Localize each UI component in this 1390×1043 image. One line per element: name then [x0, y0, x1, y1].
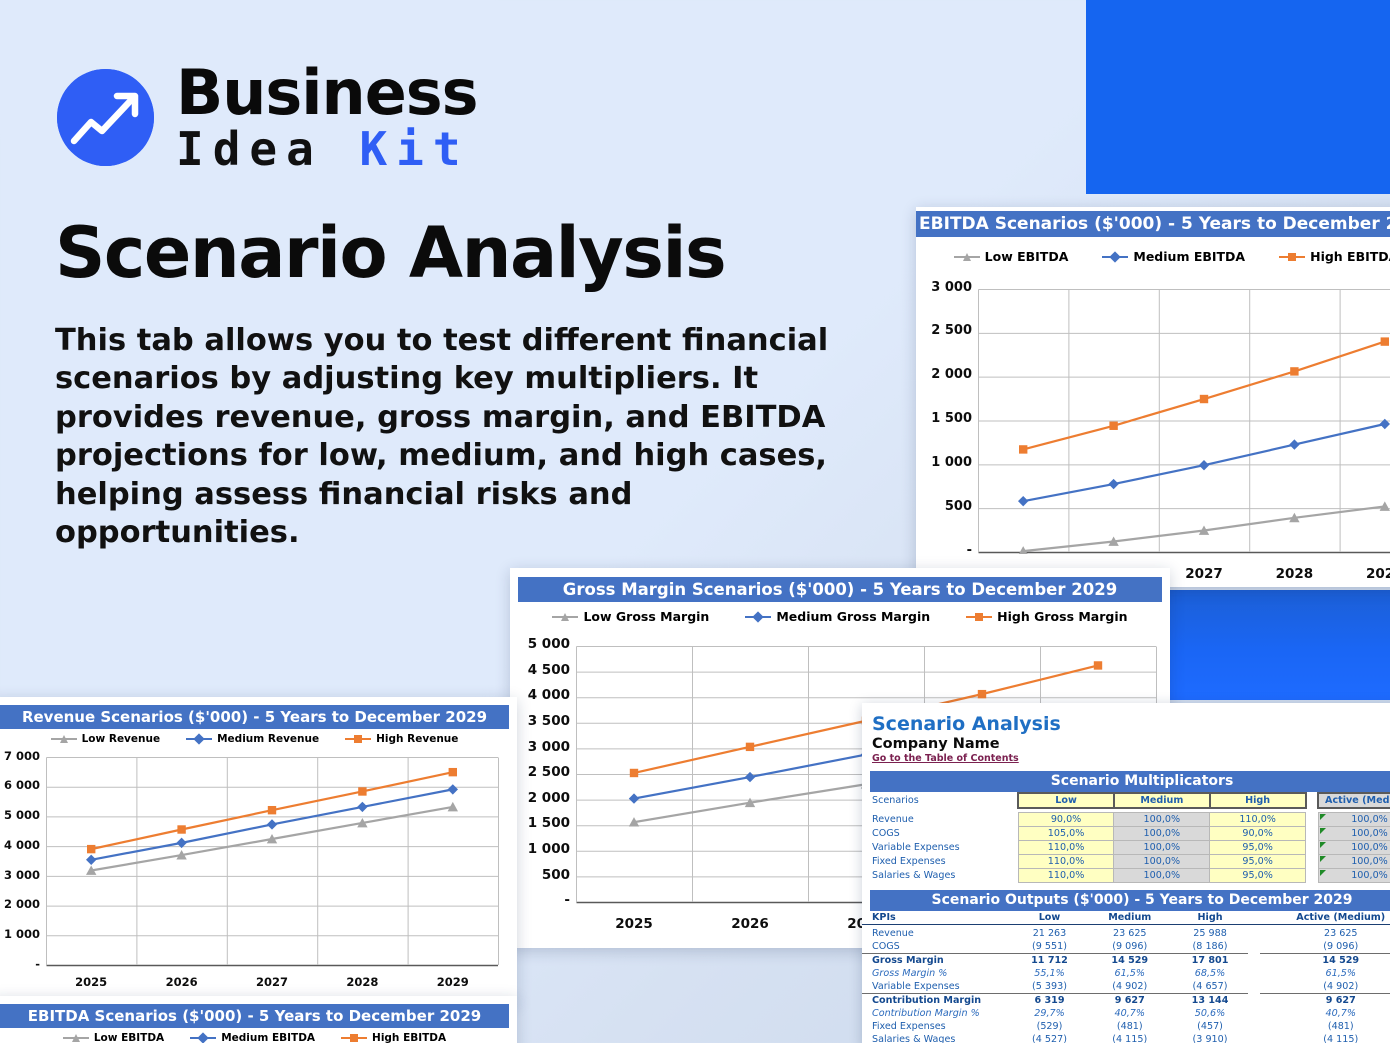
legend-label: Medium EBITDA: [221, 1032, 315, 1043]
multiplier-medium: 100,0%: [1114, 854, 1210, 868]
y-axis-tick-label: -: [516, 892, 570, 908]
kpi-label: Contribution Margin %: [862, 1007, 1012, 1020]
chart-card-ebitda-top: EBITDA Scenarios ($'000) - 5 Years to De…: [916, 207, 1390, 587]
table-row: COGS105,0%100,0%90,0%100,0%: [862, 826, 1390, 840]
table-row: Salaries & Wages(4 527)(4 115)(3 910)(4 …: [862, 1033, 1390, 1043]
multiplier-label: Variable Expenses: [862, 840, 1018, 854]
table-row: Fixed Expenses110,0%100,0%95,0%100,0%: [862, 854, 1390, 868]
kpi-high: (4 657): [1173, 980, 1248, 994]
legend-label: High EBITDA: [372, 1032, 446, 1043]
y-axis-tick-label: 4 000: [0, 838, 40, 852]
table-row: Contribution Margin6 3199 62713 1449 627: [862, 994, 1390, 1008]
kpi-medium: (481): [1087, 1020, 1173, 1033]
y-axis-tick-label: 5 000: [0, 808, 40, 822]
decorative-blue-panel-top: [1086, 0, 1390, 194]
multiplier-low: 110,0%: [1018, 868, 1114, 882]
kpi-low: 6 319: [1012, 994, 1087, 1008]
scenarios-label: Scenarios: [862, 793, 1018, 808]
column-header-medium: Medium: [1114, 793, 1210, 808]
kpi-label: Salaries & Wages: [862, 1033, 1012, 1043]
kpi-medium: 9 627: [1087, 994, 1173, 1008]
y-axis-tick-label: 4 000: [516, 687, 570, 703]
x-axis-tick-label: 2029: [1355, 566, 1390, 582]
table-row: Gross Margin %55,1%61,5%68,5%61,5%: [862, 967, 1390, 980]
table-row: Variable Expenses(5 393)(4 902)(4 657)(4…: [862, 980, 1390, 994]
y-axis-tick-label: 1 000: [916, 455, 972, 470]
legend-item: Low EBITDA: [63, 1032, 164, 1043]
scenario-outputs-table: KPIsLowMediumHighActive (Medium)Revenue2…: [862, 911, 1390, 1043]
kpi-low: (529): [1012, 1020, 1087, 1033]
legend-item: Medium Revenue: [186, 733, 319, 745]
kpi-active: (9 096): [1260, 940, 1390, 954]
spacer: [1306, 840, 1318, 854]
kpi-high: 17 801: [1173, 954, 1248, 968]
legend-item: Low Gross Margin: [552, 609, 709, 624]
kpi-active: 14 529: [1260, 954, 1390, 968]
y-axis-tick-label: 3 000: [516, 739, 570, 755]
multiplier-label: Salaries & Wages: [862, 868, 1018, 882]
chart-legend: Low RevenueMedium RevenueHigh Revenue: [0, 733, 517, 745]
scenario-multiplicators-band: Scenario Multiplicators: [870, 771, 1390, 792]
kpi-high: (3 910): [1173, 1033, 1248, 1043]
multiplier-label: COGS: [862, 826, 1018, 840]
kpi-label: Variable Expenses: [862, 980, 1012, 994]
kpi-high: (8 186): [1173, 940, 1248, 954]
table-row: Revenue21 26323 62525 98823 625: [862, 927, 1390, 940]
y-axis-tick-label: 1 000: [0, 927, 40, 941]
table-row: COGS(9 551)(9 096)(8 186)(9 096): [862, 940, 1390, 954]
y-axis-tick-label: 4 500: [516, 662, 570, 678]
spacer: [1248, 927, 1260, 940]
y-axis-tick-label: 7 000: [0, 749, 40, 763]
y-axis-tick-label: 1 500: [516, 815, 570, 831]
y-axis-tick-label: 2 500: [916, 323, 972, 338]
kpi-active: 23 625: [1260, 927, 1390, 940]
legend-label: Medium Gross Margin: [776, 609, 930, 624]
kpi-low: 21 263: [1012, 927, 1087, 940]
brand-logo: Business Idea Kit: [57, 62, 478, 172]
spacer: [1306, 854, 1318, 868]
brand-name-idea: Idea: [176, 122, 323, 176]
x-axis-tick-label: 2025: [61, 975, 121, 989]
kpi-label: Gross Margin: [862, 954, 1012, 968]
legend-item: Low Revenue: [51, 733, 161, 745]
kpi-active: 61,5%: [1260, 967, 1390, 980]
kpi-header-medium: Medium: [1087, 911, 1173, 925]
legend-item: High Revenue: [345, 733, 458, 745]
kpi-medium: (9 096): [1087, 940, 1173, 954]
legend-marker-square-icon: [1279, 252, 1305, 262]
y-axis-tick-label: 500: [516, 867, 570, 883]
kpi-medium: (4 902): [1087, 980, 1173, 994]
legend-marker-triangle-icon: [51, 734, 77, 744]
multiplier-high: 110,0%: [1210, 812, 1306, 826]
table-of-contents-link[interactable]: Go to the Table of Contents: [862, 752, 1390, 764]
x-axis-tick-label: 2026: [152, 975, 212, 989]
legend-marker-triangle-icon: [954, 252, 980, 262]
multiplier-label: Revenue: [862, 812, 1018, 826]
kpi-low: (5 393): [1012, 980, 1087, 994]
kpi-low: (9 551): [1012, 940, 1087, 954]
kpi-label: Revenue: [862, 927, 1012, 940]
chart-legend: Low EBITDAMedium EBITDAHigh EBITDA: [916, 249, 1390, 264]
brand-name-kit: Kit: [359, 122, 469, 176]
column-header-low: Low: [1018, 793, 1114, 808]
multiplier-low: 110,0%: [1018, 854, 1114, 868]
legend-item: Low EBITDA: [954, 249, 1069, 264]
kpi-header-high: High: [1173, 911, 1248, 925]
table-row: ScenariosLowMediumHighActive (Medium): [862, 793, 1390, 808]
kpi-label: Gross Margin %: [862, 967, 1012, 980]
y-axis-tick-label: 2 500: [516, 764, 570, 780]
legend-item: High Gross Margin: [966, 609, 1127, 624]
legend-marker-square-icon: [341, 1033, 367, 1043]
spacer: [1248, 994, 1260, 1008]
y-axis-tick-label: 1 000: [516, 841, 570, 857]
legend-marker-triangle-icon: [63, 1033, 89, 1043]
legend-label: Medium Revenue: [217, 733, 319, 745]
y-axis-tick-label: 2 000: [916, 367, 972, 382]
table-row: Gross Margin11 71214 52917 80114 529: [862, 954, 1390, 968]
multiplier-low: 90,0%: [1018, 812, 1114, 826]
legend-item: High EBITDA: [1279, 249, 1390, 264]
multiplier-high: 95,0%: [1210, 868, 1306, 882]
legend-item: Medium EBITDA: [1102, 249, 1245, 264]
kpi-low: 29,7%: [1012, 1007, 1087, 1020]
spacer: [1248, 1007, 1260, 1020]
sheet-title: Scenario Analysis: [862, 703, 1390, 735]
x-axis-tick-label: 2027: [1174, 566, 1234, 582]
y-axis-tick-label: -: [0, 957, 40, 971]
multiplier-active: 100,0%: [1318, 840, 1390, 854]
chart-title: Revenue Scenarios ($'000) - 5 Years to D…: [0, 705, 509, 729]
legend-item: Medium Gross Margin: [745, 609, 930, 624]
x-axis-tick-label: 2025: [604, 916, 664, 932]
y-axis-tick-label: 6 000: [0, 778, 40, 792]
spacer: [1248, 967, 1260, 980]
spacer: [1248, 1020, 1260, 1033]
x-axis-tick-label: 2027: [242, 975, 302, 989]
table-row: Revenue90,0%100,0%110,0%100,0%: [862, 812, 1390, 826]
y-axis-tick-label: 3 500: [516, 713, 570, 729]
scenario-analysis-sheet: Scenario Analysis Company Name Go to the…: [862, 703, 1390, 1043]
kpi-medium: 40,7%: [1087, 1007, 1173, 1020]
legend-label: Low EBITDA: [985, 249, 1069, 264]
kpi-label: COGS: [862, 940, 1012, 954]
y-axis-tick-label: 5 000: [516, 636, 570, 652]
legend-label: High Gross Margin: [997, 609, 1127, 624]
y-axis-tick-label: 2 000: [516, 790, 570, 806]
page-title: Scenario Analysis: [55, 212, 725, 294]
legend-label: Low Revenue: [82, 733, 161, 745]
kpi-label: Contribution Margin: [862, 994, 1012, 1008]
kpi-header: KPIs: [862, 911, 1012, 925]
multiplier-medium: 100,0%: [1114, 840, 1210, 854]
kpi-header-low: Low: [1012, 911, 1087, 925]
legend-label: Low EBITDA: [94, 1032, 164, 1043]
spacer: [1306, 793, 1318, 808]
x-axis-tick-label: 2029: [423, 975, 483, 989]
column-header-active: Active (Medium): [1318, 793, 1390, 808]
y-axis-tick-label: -: [916, 543, 972, 558]
legend-item: High EBITDA: [341, 1032, 446, 1043]
brand-name-business: Business: [176, 62, 478, 124]
decorative-blue-panel-middle: [1170, 590, 1390, 700]
kpi-active: (481): [1260, 1020, 1390, 1033]
kpi-high: (457): [1173, 1020, 1248, 1033]
table-row: Salaries & Wages110,0%100,0%95,0%100,0%: [862, 868, 1390, 882]
table-row: Variable Expenses110,0%100,0%95,0%100,0%: [862, 840, 1390, 854]
chart-legend: Low Gross MarginMedium Gross MarginHigh …: [510, 609, 1170, 624]
kpi-medium: (4 115): [1087, 1033, 1173, 1043]
legend-marker-diamond-icon: [1102, 252, 1128, 262]
legend-label: High EBITDA: [1310, 249, 1390, 264]
y-axis-tick-label: 1 500: [916, 411, 972, 426]
legend-marker-square-icon: [966, 612, 992, 622]
kpi-high: 50,6%: [1173, 1007, 1248, 1020]
legend-marker-diamond-icon: [745, 612, 771, 622]
multiplier-medium: 100,0%: [1114, 868, 1210, 882]
legend-marker-square-icon: [345, 734, 371, 744]
y-axis-tick-label: 2 000: [0, 897, 40, 911]
spacer: [1248, 1033, 1260, 1043]
legend-item: Medium EBITDA: [190, 1032, 315, 1043]
multiplier-active: 100,0%: [1318, 868, 1390, 882]
kpi-active: 9 627: [1260, 994, 1390, 1008]
multiplier-high: 95,0%: [1210, 840, 1306, 854]
kpi-high: 25 988: [1173, 927, 1248, 940]
multiplier-medium: 100,0%: [1114, 826, 1210, 840]
kpi-header-active: Active (Medium): [1260, 911, 1390, 925]
multiplier-active: 100,0%: [1318, 854, 1390, 868]
chart-title: Gross Margin Scenarios ($'000) - 5 Years…: [518, 577, 1162, 602]
kpi-low: 11 712: [1012, 954, 1087, 968]
multiplier-active: 100,0%: [1318, 812, 1390, 826]
chart-title: EBITDA Scenarios ($'000) - 5 Years to De…: [916, 211, 1390, 237]
table-row: Contribution Margin %29,7%40,7%50,6%40,7…: [862, 1007, 1390, 1020]
legend-label: Low Gross Margin: [583, 609, 709, 624]
spacer: [1248, 940, 1260, 954]
x-axis-tick-label: 2028: [1264, 566, 1324, 582]
chart-card-ebitda-bottom: EBITDA Scenarios ($'000) - 5 Years to De…: [0, 996, 517, 1043]
multiplier-low: 105,0%: [1018, 826, 1114, 840]
x-axis-tick-label: 2028: [332, 975, 392, 989]
kpi-medium: 14 529: [1087, 954, 1173, 968]
page-description: This tab allows you to test different fi…: [55, 322, 855, 553]
spacer: [1306, 868, 1318, 882]
plot-area: [978, 289, 1390, 554]
sheet-company-name: Company Name: [862, 735, 1390, 752]
kpi-medium: 61,5%: [1087, 967, 1173, 980]
x-axis-tick-label: 2026: [720, 916, 780, 932]
spacer: [1248, 954, 1260, 968]
plot-area: [46, 757, 500, 967]
spacer: [1248, 911, 1260, 925]
table-row: KPIsLowMediumHighActive (Medium): [862, 911, 1390, 925]
kpi-high: 13 144: [1173, 994, 1248, 1008]
multiplier-low: 110,0%: [1018, 840, 1114, 854]
spacer: [1306, 812, 1318, 826]
kpi-low: (4 527): [1012, 1033, 1087, 1043]
legend-marker-triangle-icon: [552, 612, 578, 622]
legend-label: High Revenue: [376, 733, 458, 745]
legend-marker-diamond-icon: [186, 734, 212, 744]
multiplier-high: 90,0%: [1210, 826, 1306, 840]
growth-arrow-icon: [57, 69, 154, 166]
kpi-label: Fixed Expenses: [862, 1020, 1012, 1033]
spacer: [1248, 980, 1260, 994]
kpi-high: 68,5%: [1173, 967, 1248, 980]
spacer: [1306, 826, 1318, 840]
multiplier-high: 95,0%: [1210, 854, 1306, 868]
multiplier-medium: 100,0%: [1114, 812, 1210, 826]
table-row: Fixed Expenses(529)(481)(457)(481): [862, 1020, 1390, 1033]
multiplier-active: 100,0%: [1318, 826, 1390, 840]
scenario-multiplicators-table: ScenariosLowMediumHighActive (Medium)Rev…: [862, 792, 1390, 883]
y-axis-tick-label: 3 000: [916, 280, 972, 295]
kpi-active: (4 902): [1260, 980, 1390, 994]
chart-card-revenue: Revenue Scenarios ($'000) - 5 Years to D…: [0, 697, 517, 1003]
legend-marker-diamond-icon: [190, 1033, 216, 1043]
y-axis-tick-label: 500: [916, 499, 972, 514]
kpi-medium: 23 625: [1087, 927, 1173, 940]
multiplier-label: Fixed Expenses: [862, 854, 1018, 868]
kpi-active: (4 115): [1260, 1033, 1390, 1043]
column-header-high: High: [1210, 793, 1306, 808]
chart-legend: Low EBITDAMedium EBITDAHigh EBITDA: [0, 1032, 517, 1043]
y-axis-tick-label: 3 000: [0, 868, 40, 882]
scenario-outputs-band: Scenario Outputs ($'000) - 5 Years to De…: [870, 890, 1390, 911]
legend-label: Medium EBITDA: [1133, 249, 1245, 264]
kpi-low: 55,1%: [1012, 967, 1087, 980]
chart-title: EBITDA Scenarios ($'000) - 5 Years to De…: [0, 1004, 509, 1028]
kpi-active: 40,7%: [1260, 1007, 1390, 1020]
